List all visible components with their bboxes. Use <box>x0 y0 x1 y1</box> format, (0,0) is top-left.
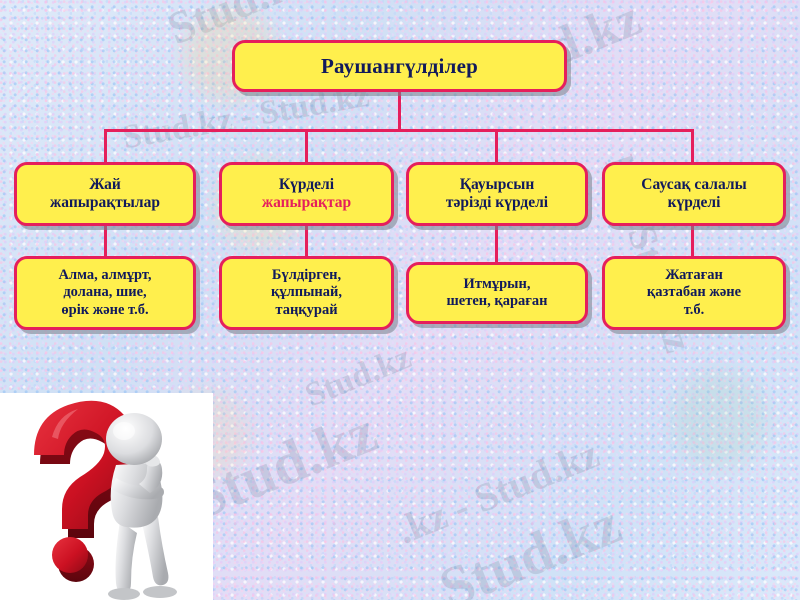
node-cat3-line-1: тәрізді күрделі <box>409 194 585 212</box>
connector-drop-0 <box>104 224 107 258</box>
node-examples-palmate[interactable]: Жатаған қазтабан және т.б. <box>602 256 786 330</box>
node-leaf1-line-2: өрік және т.б. <box>17 302 193 319</box>
connector-drop-3 <box>691 224 694 258</box>
node-root-line-0: Раушангүлділер <box>235 54 564 79</box>
node-simple-leaves[interactable]: Жай жапырақтылар <box>14 162 196 226</box>
node-leaf2-line-0: Бүлдірген, <box>222 267 391 284</box>
connector-drop-1 <box>305 224 308 258</box>
node-root[interactable]: Раушангүлділер <box>232 40 567 92</box>
node-cat2-line-0: Күрделі <box>222 176 391 194</box>
connector-drop-1 <box>305 129 308 163</box>
connector-drop-2 <box>495 224 498 264</box>
node-leaf4-line-2: т.б. <box>605 302 783 319</box>
node-leaf1-line-0: Алма, алмұрт, <box>17 267 193 284</box>
node-cat4-line-0: Саусақ салалы <box>605 176 783 194</box>
connector-root-stem <box>398 92 401 130</box>
node-leaf4-line-0: Жатаған <box>605 267 783 284</box>
connector-drop-0 <box>104 129 107 163</box>
node-examples-simple[interactable]: Алма, алмұрт, долана, шие, өрік және т.б… <box>14 256 196 330</box>
node-leaf4-line-1: қазтабан және <box>605 284 783 301</box>
node-pinnate-compound[interactable]: Қауырсын тәрізді күрделі <box>406 162 588 226</box>
node-cat3-line-0: Қауырсын <box>409 176 585 194</box>
connector-horizontal-bus <box>104 129 694 132</box>
node-cat1-line-0: Жай <box>17 176 193 194</box>
node-examples-compound[interactable]: Бүлдірген, құлпынай, таңқурай <box>219 256 394 330</box>
node-examples-pinnate[interactable]: Итмұрын, шетен, қараған <box>406 262 588 324</box>
node-cat4-line-1: күрделі <box>605 194 783 212</box>
connector-drop-3 <box>691 129 694 163</box>
node-leaf2-line-1: құлпынай, <box>222 284 391 301</box>
node-cat1-line-1: жапырақтылар <box>17 194 193 212</box>
node-leaf3-line-1: шетен, қараған <box>409 293 585 310</box>
node-compound-leaves[interactable]: Күрделі жапырақтар <box>219 162 394 226</box>
node-leaf2-line-2: таңқурай <box>222 302 391 319</box>
thinking-person-illustration <box>0 393 213 600</box>
connector-drop-2 <box>495 129 498 163</box>
thinking-figure-icon <box>0 393 213 600</box>
node-leaf3-line-0: Итмұрын, <box>409 276 585 293</box>
node-palmate-compound[interactable]: Саусақ салалы күрделі <box>602 162 786 226</box>
node-cat2-line-1: жапырақтар <box>222 194 391 212</box>
node-leaf1-line-1: долана, шие, <box>17 284 193 301</box>
